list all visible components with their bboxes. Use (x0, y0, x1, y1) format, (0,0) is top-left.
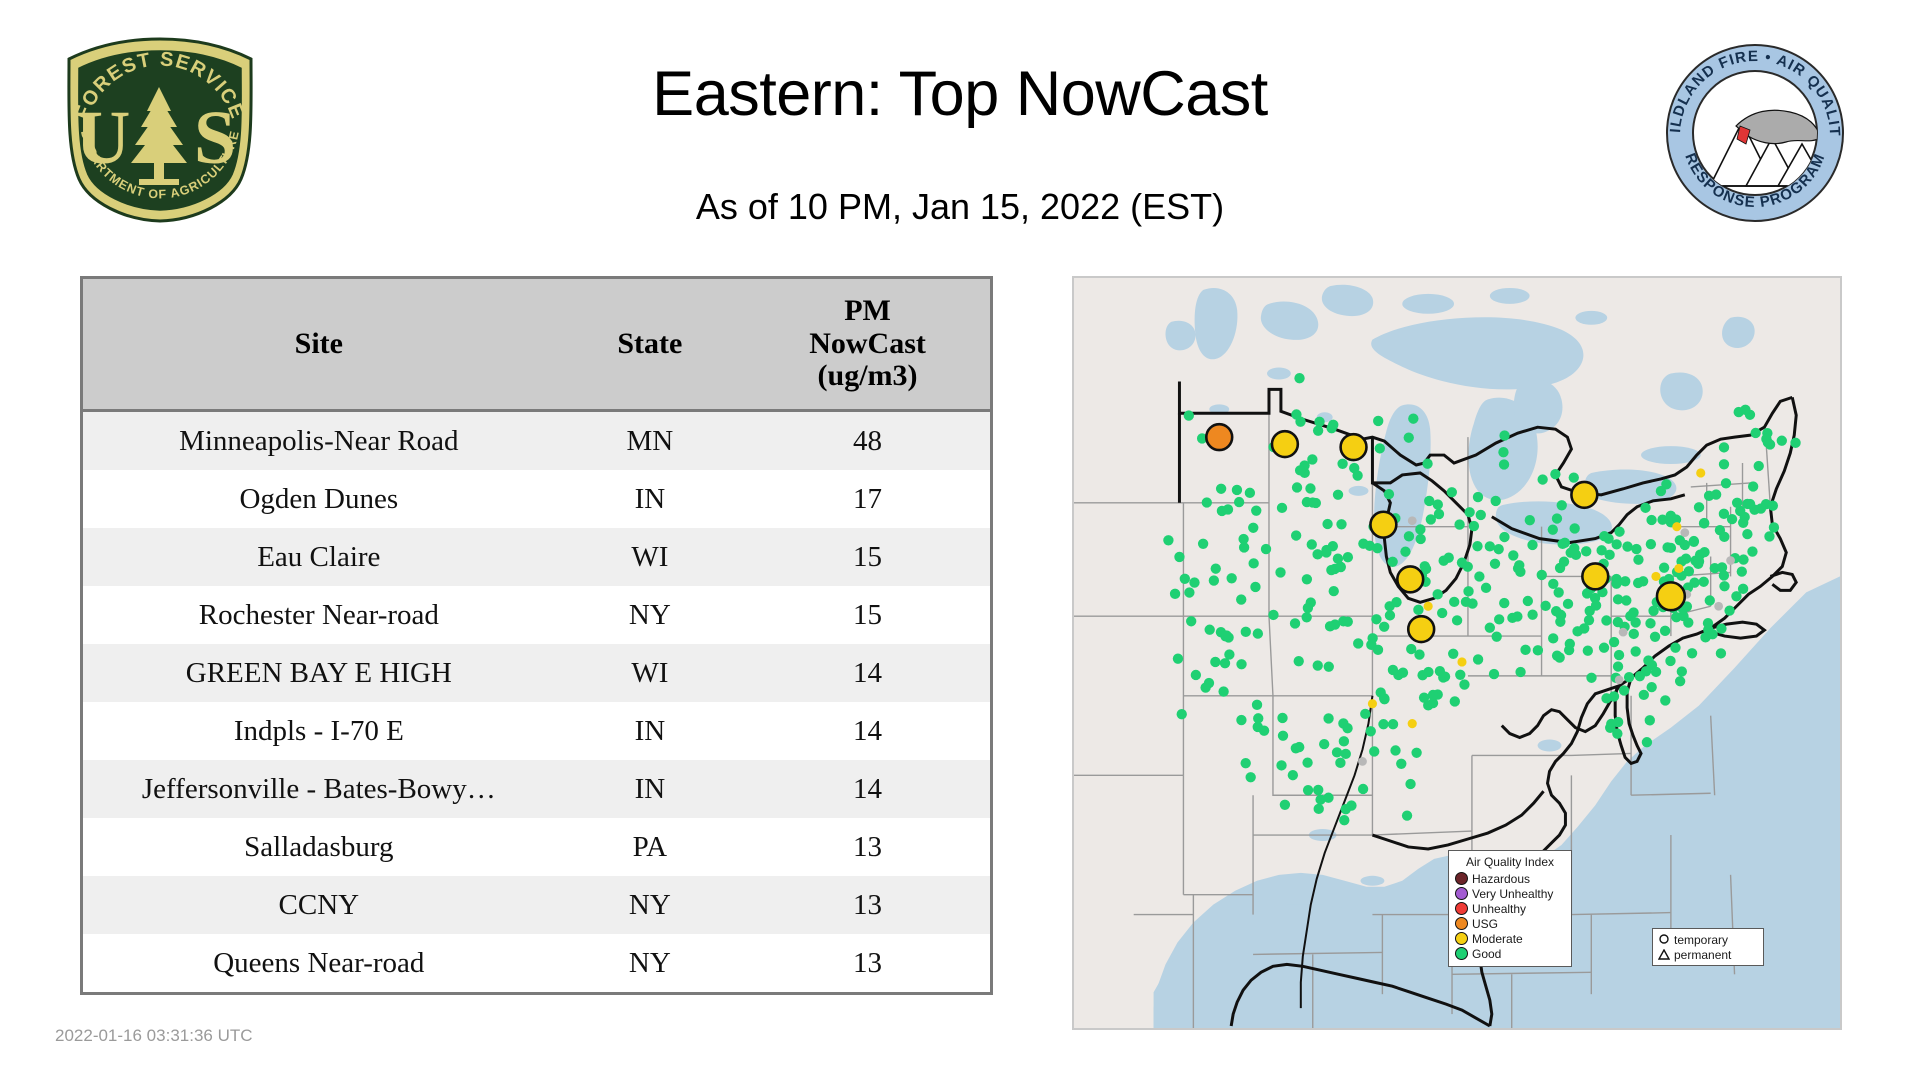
monitor-dot[interactable] (1596, 545, 1606, 555)
monitor-dot[interactable] (1378, 719, 1388, 729)
monitor-dot[interactable] (1444, 553, 1454, 563)
monitor-dot[interactable] (1660, 626, 1670, 636)
monitor-dot[interactable] (1280, 800, 1290, 810)
monitor-dot[interactable] (1586, 673, 1596, 683)
monitor-dot[interactable] (1321, 545, 1331, 555)
monitor-dot[interactable] (1726, 556, 1735, 565)
monitor-dot[interactable] (1452, 615, 1462, 625)
monitor-dot[interactable] (1352, 470, 1362, 480)
monitor-dot[interactable] (1328, 420, 1338, 430)
monitor-dot[interactable] (1373, 645, 1383, 655)
monitor-dot[interactable] (1694, 556, 1704, 566)
monitor-dot[interactable] (1498, 447, 1508, 457)
monitor-dot[interactable] (1464, 507, 1474, 517)
monitor-dot[interactable] (1170, 589, 1180, 599)
monitor-dot[interactable] (1601, 693, 1611, 703)
monitor-dot[interactable] (1369, 746, 1379, 756)
monitor-dot[interactable] (1740, 405, 1750, 415)
monitor-dot[interactable] (1747, 546, 1757, 556)
monitor-dot[interactable] (1424, 496, 1434, 506)
monitor-dot[interactable] (1499, 430, 1509, 440)
monitor-dot[interactable] (1548, 524, 1558, 534)
monitor-dot[interactable] (1689, 537, 1699, 547)
monitor-dot[interactable] (1325, 621, 1335, 631)
monitor-dot[interactable] (1343, 552, 1353, 562)
monitor-dot[interactable] (1619, 685, 1629, 695)
monitor-dot[interactable] (1292, 482, 1302, 492)
monitor-dot[interactable] (1687, 648, 1697, 658)
monitor-dot[interactable] (1537, 474, 1547, 484)
monitor-dot[interactable] (1552, 651, 1562, 661)
monitor-dot[interactable] (1322, 519, 1332, 529)
monitor-dot[interactable] (1360, 709, 1370, 719)
monitor-dot[interactable] (1719, 442, 1729, 452)
monitor-dot[interactable] (1719, 532, 1729, 542)
monitor-dot[interactable] (1656, 486, 1666, 496)
monitor-dot[interactable] (1645, 618, 1655, 628)
top-site-marker-green-bay-e-high[interactable] (1341, 434, 1367, 460)
monitor-dot[interactable] (1629, 629, 1639, 639)
monitor-dot[interactable] (1527, 610, 1537, 620)
monitor-dot[interactable] (1314, 804, 1324, 814)
monitor-dot[interactable] (1601, 615, 1611, 625)
monitor-dot[interactable] (1405, 779, 1415, 789)
monitor-dot[interactable] (1472, 541, 1482, 551)
monitor-dot[interactable] (1313, 426, 1323, 436)
monitor-dot[interactable] (1379, 694, 1389, 704)
monitor-dot[interactable] (1553, 587, 1563, 597)
monitor-dot[interactable] (1415, 524, 1425, 534)
monitor-dot[interactable] (1537, 570, 1547, 580)
monitor-dot[interactable] (1332, 747, 1342, 757)
table-row[interactable]: SalladasburgPA13 (83, 818, 990, 876)
monitor-dot[interactable] (1346, 800, 1356, 810)
monitor-dot[interactable] (1677, 666, 1687, 676)
monitor-dot[interactable] (1404, 531, 1414, 541)
monitor-dot[interactable] (1319, 739, 1329, 749)
monitor-dot[interactable] (1202, 497, 1212, 507)
monitor-dot[interactable] (1245, 488, 1255, 498)
monitor-dot[interactable] (1583, 646, 1593, 656)
monitor-dot[interactable] (1358, 539, 1368, 549)
monitor-dot[interactable] (1591, 600, 1601, 610)
monitor-dot[interactable] (1721, 478, 1731, 488)
monitor-dot[interactable] (1448, 649, 1458, 659)
monitor-dot[interactable] (1329, 586, 1339, 596)
monitor-dot[interactable] (1703, 618, 1713, 628)
monitor-dot[interactable] (1680, 540, 1690, 550)
monitor-dot[interactable] (1454, 519, 1464, 529)
monitor-dot[interactable] (1738, 584, 1748, 594)
table-row[interactable]: Indpls - I-70 EIN14 (83, 702, 990, 760)
monitor-dot[interactable] (1777, 436, 1787, 446)
monitor-dot[interactable] (1666, 543, 1676, 553)
monitor-dot[interactable] (1252, 700, 1262, 710)
table-row[interactable]: Queens Near-roadNY13 (83, 934, 990, 992)
monitor-dot[interactable] (1670, 643, 1680, 653)
top-site-marker-eau-claire[interactable] (1272, 431, 1298, 457)
monitor-dot[interactable] (1457, 558, 1467, 568)
monitor-dot[interactable] (1559, 557, 1569, 567)
monitor-dot[interactable] (1612, 728, 1622, 738)
monitor-dot[interactable] (1485, 623, 1495, 633)
monitor-dot[interactable] (1419, 692, 1429, 702)
monitor-dot[interactable] (1620, 576, 1630, 586)
monitor-dot[interactable] (1674, 564, 1683, 573)
monitor-dot[interactable] (1414, 649, 1424, 659)
monitor-dot[interactable] (1302, 612, 1312, 622)
monitor-dot[interactable] (1515, 567, 1525, 577)
monitor-dot[interactable] (1335, 758, 1345, 768)
monitor-dot[interactable] (1189, 577, 1199, 587)
monitor-dot[interactable] (1540, 601, 1550, 611)
monitor-dot[interactable] (1174, 552, 1184, 562)
monitor-dot[interactable] (1404, 432, 1414, 442)
monitor-dot[interactable] (1463, 586, 1473, 596)
monitor-dot[interactable] (1302, 574, 1312, 584)
monitor-dot[interactable] (1177, 709, 1187, 719)
monitor-dot[interactable] (1750, 428, 1760, 438)
monitor-dot[interactable] (1248, 558, 1258, 568)
monitor-dot[interactable] (1645, 715, 1655, 725)
monitor-dot[interactable] (1599, 531, 1609, 541)
monitor-dot[interactable] (1241, 627, 1251, 637)
monitor-dot[interactable] (1411, 748, 1421, 758)
monitor-dot[interactable] (1200, 682, 1210, 692)
monitor-dot[interactable] (1238, 534, 1248, 544)
monitor-dot[interactable] (1305, 483, 1315, 493)
monitor-dot[interactable] (1339, 736, 1349, 746)
monitor-dot[interactable] (1711, 489, 1721, 499)
monitor-dot[interactable] (1251, 505, 1261, 515)
monitor-dot[interactable] (1295, 465, 1305, 475)
monitor-dot[interactable] (1241, 758, 1251, 768)
monitor-dot[interactable] (1613, 617, 1623, 627)
monitor-dot[interactable] (1633, 578, 1643, 588)
monitor-dot[interactable] (1221, 630, 1231, 640)
monitor-dot[interactable] (1707, 629, 1717, 639)
monitor-dot[interactable] (1209, 575, 1219, 585)
monitor-dot[interactable] (1643, 655, 1653, 665)
monitor-dot[interactable] (1379, 622, 1389, 632)
monitor-dot[interactable] (1485, 541, 1495, 551)
monitor-dot[interactable] (1375, 443, 1385, 453)
monitor-dot[interactable] (1469, 521, 1479, 531)
monitor-dot[interactable] (1426, 514, 1436, 524)
monitor-dot[interactable] (1619, 628, 1628, 637)
monitor-dot[interactable] (1302, 757, 1312, 767)
monitor-dot[interactable] (1646, 539, 1656, 549)
monitor-dot[interactable] (1402, 810, 1412, 820)
monitor-dot[interactable] (1312, 549, 1322, 559)
monitor-dot[interactable] (1236, 715, 1246, 725)
monitor-dot[interactable] (1548, 633, 1558, 643)
monitor-dot[interactable] (1290, 618, 1300, 628)
monitor-dot[interactable] (1633, 555, 1643, 565)
monitor-dot[interactable] (1650, 632, 1660, 642)
monitor-dot[interactable] (1457, 657, 1466, 666)
monitor-dot[interactable] (1569, 472, 1579, 482)
monitor-dot[interactable] (1499, 598, 1509, 608)
monitor-dot[interactable] (1490, 559, 1500, 569)
monitor-dot[interactable] (1422, 459, 1432, 469)
monitor-dot[interactable] (1614, 526, 1624, 536)
monitor-dot[interactable] (1659, 562, 1669, 572)
monitor-dot[interactable] (1481, 583, 1491, 593)
monitor-dot[interactable] (1294, 373, 1304, 383)
monitor-dot[interactable] (1625, 611, 1635, 621)
monitor-dot[interactable] (1716, 624, 1726, 634)
monitor-dot[interactable] (1449, 597, 1459, 607)
monitor-dot[interactable] (1507, 613, 1517, 623)
monitor-dot[interactable] (1428, 690, 1438, 700)
monitor-dot[interactable] (1368, 699, 1377, 708)
monitor-dot[interactable] (1413, 605, 1423, 615)
monitor-dot[interactable] (1699, 518, 1709, 528)
monitor-dot[interactable] (1291, 530, 1301, 540)
monitor-dot[interactable] (1246, 772, 1256, 782)
table-row[interactable]: Ogden DunesIN17 (83, 470, 990, 528)
monitor-dot[interactable] (1227, 573, 1237, 583)
monitor-dot[interactable] (1473, 492, 1483, 502)
monitor-dot[interactable] (1303, 785, 1313, 795)
air-quality-monitor-map[interactable]: Air Quality Index HazardousVery Unhealth… (1072, 276, 1842, 1030)
monitor-dot[interactable] (1622, 541, 1632, 551)
monitor-dot[interactable] (1198, 539, 1208, 549)
monitor-dot[interactable] (1569, 543, 1579, 553)
monitor-dot[interactable] (1683, 617, 1693, 627)
monitor-dot[interactable] (1705, 595, 1715, 605)
monitor-dot[interactable] (1438, 672, 1448, 682)
monitor-dot[interactable] (1756, 503, 1766, 513)
monitor-dot[interactable] (1253, 628, 1263, 638)
monitor-dot[interactable] (1390, 745, 1400, 755)
monitor-dot[interactable] (1358, 757, 1367, 766)
monitor-dot[interactable] (1572, 626, 1582, 636)
monitor-dot[interactable] (1253, 722, 1263, 732)
monitor-dot[interactable] (1268, 610, 1278, 620)
monitor-dot[interactable] (1665, 656, 1675, 666)
monitor-dot[interactable] (1326, 565, 1336, 575)
monitor-dot[interactable] (1366, 726, 1376, 736)
monitor-dot[interactable] (1631, 544, 1641, 554)
monitor-dot[interactable] (1223, 504, 1233, 514)
monitor-dot[interactable] (1250, 582, 1260, 592)
monitor-dot[interactable] (1560, 538, 1570, 548)
monitor-dot[interactable] (1520, 645, 1530, 655)
monitor-dot[interactable] (1769, 522, 1779, 532)
table-row[interactable]: GREEN BAY E HIGHWI14 (83, 644, 990, 702)
monitor-dot[interactable] (1294, 656, 1304, 666)
monitor-dot[interactable] (1716, 648, 1726, 658)
monitor-dot[interactable] (1275, 567, 1285, 577)
table-row[interactable]: Jeffersonville - Bates-Bowy…IN14 (83, 760, 990, 818)
monitor-dot[interactable] (1563, 599, 1573, 609)
table-row[interactable]: Eau ClaireWI15 (83, 528, 990, 586)
monitor-dot[interactable] (1614, 650, 1624, 660)
monitor-dot[interactable] (1387, 557, 1397, 567)
monitor-dot[interactable] (1748, 481, 1758, 491)
monitor-dot[interactable] (1764, 531, 1774, 541)
monitor-dot[interactable] (1186, 616, 1196, 626)
monitor-dot[interactable] (1570, 523, 1580, 533)
monitor-dot[interactable] (1373, 416, 1383, 426)
monitor-dot[interactable] (1551, 606, 1561, 616)
monitor-dot[interactable] (1333, 490, 1343, 500)
monitor-dot[interactable] (1278, 731, 1288, 741)
monitor-dot[interactable] (1333, 554, 1343, 564)
monitor-dot[interactable] (1191, 670, 1201, 680)
monitor-dot[interactable] (1694, 502, 1704, 512)
monitor-dot[interactable] (1489, 669, 1499, 679)
monitor-dot[interactable] (1205, 625, 1215, 635)
monitor-dot[interactable] (1515, 667, 1525, 677)
monitor-dot[interactable] (1615, 675, 1624, 684)
monitor-dot[interactable] (1396, 759, 1406, 769)
top-site-marker-salladasburg[interactable] (1582, 563, 1608, 589)
monitor-dot[interactable] (1337, 459, 1347, 469)
monitor-dot[interactable] (1525, 515, 1535, 525)
monitor-dot[interactable] (1358, 784, 1368, 794)
monitor-dot[interactable] (1672, 522, 1681, 531)
monitor-dot[interactable] (1339, 815, 1349, 825)
monitor-dot[interactable] (1492, 632, 1502, 642)
monitor-dot[interactable] (1714, 602, 1723, 611)
monitor-dot[interactable] (1437, 608, 1447, 618)
monitor-dot[interactable] (1565, 639, 1575, 649)
monitor-dot[interactable] (1646, 515, 1656, 525)
monitor-dot[interactable] (1555, 617, 1565, 627)
table-row[interactable]: CCNYNY13 (83, 876, 990, 934)
monitor-dot[interactable] (1385, 610, 1395, 620)
monitor-dot[interactable] (1391, 597, 1401, 607)
monitor-dot[interactable] (1508, 550, 1518, 560)
monitor-dot[interactable] (1173, 653, 1183, 663)
monitor-dot[interactable] (1388, 665, 1398, 675)
monitor-dot[interactable] (1295, 417, 1305, 427)
monitor-dot[interactable] (1742, 529, 1752, 539)
monitor-dot[interactable] (1371, 614, 1381, 624)
monitor-dot[interactable] (1353, 638, 1363, 648)
table-row[interactable]: Minneapolis-Near RoadMN48 (83, 411, 990, 471)
monitor-dot[interactable] (1163, 535, 1173, 545)
monitor-dot[interactable] (1719, 570, 1729, 580)
monitor-dot[interactable] (1613, 661, 1623, 671)
monitor-dot[interactable] (1719, 509, 1729, 519)
monitor-dot[interactable] (1724, 605, 1734, 615)
monitor-dot[interactable] (1474, 571, 1484, 581)
monitor-dot[interactable] (1417, 670, 1427, 680)
monitor-dot[interactable] (1635, 671, 1645, 681)
monitor-dot[interactable] (1648, 606, 1658, 616)
monitor-dot[interactable] (1218, 686, 1228, 696)
monitor-dot[interactable] (1180, 574, 1190, 584)
monitor-dot[interactable] (1552, 513, 1562, 523)
top-site-marker-minneapolis-near-road[interactable] (1206, 424, 1232, 450)
monitor-dot[interactable] (1248, 523, 1258, 533)
monitor-dot[interactable] (1611, 539, 1621, 549)
monitor-dot[interactable] (1719, 459, 1729, 469)
monitor-dot[interactable] (1314, 417, 1324, 427)
monitor-dot[interactable] (1343, 616, 1353, 626)
monitor-dot[interactable] (1341, 749, 1351, 759)
monitor-dot[interactable] (1647, 682, 1657, 692)
monitor-dot[interactable] (1745, 499, 1755, 509)
monitor-dot[interactable] (1313, 660, 1323, 670)
monitor-dot[interactable] (1499, 459, 1509, 469)
monitor-dot[interactable] (1323, 793, 1333, 803)
monitor-dot[interactable] (1400, 546, 1410, 556)
monitor-dot[interactable] (1234, 497, 1244, 507)
monitor-dot[interactable] (1313, 785, 1323, 795)
monitor-dot[interactable] (1307, 454, 1317, 464)
monitor-dot[interactable] (1324, 662, 1334, 672)
monitor-dot[interactable] (1220, 658, 1230, 668)
monitor-dot[interactable] (1342, 723, 1352, 733)
monitor-dot[interactable] (1699, 547, 1709, 557)
monitor-dot[interactable] (1738, 554, 1748, 564)
monitor-dot[interactable] (1224, 649, 1234, 659)
monitor-dot[interactable] (1408, 413, 1418, 423)
monitor-dot[interactable] (1606, 719, 1616, 729)
monitor-dot[interactable] (1737, 566, 1747, 576)
monitor-dot[interactable] (1307, 539, 1317, 549)
monitor-dot[interactable] (1523, 596, 1533, 606)
monitor-dot[interactable] (1494, 544, 1504, 554)
top-site-marker-indpls-i-70-e[interactable] (1397, 566, 1423, 592)
monitor-dot[interactable] (1624, 672, 1634, 682)
monitor-dot[interactable] (1675, 676, 1685, 686)
monitor-dot[interactable] (1609, 637, 1619, 647)
monitor-dot[interactable] (1494, 614, 1504, 624)
monitor-dot[interactable] (1372, 543, 1382, 553)
monitor-dot[interactable] (1210, 657, 1220, 667)
monitor-dot[interactable] (1639, 690, 1649, 700)
monitor-dot[interactable] (1336, 519, 1346, 529)
monitor-dot[interactable] (1557, 500, 1567, 510)
monitor-dot[interactable] (1651, 667, 1661, 677)
monitor-dot[interactable] (1768, 501, 1778, 511)
table-row[interactable]: Rochester Near-roadNY15 (83, 586, 990, 644)
monitor-dot[interactable] (1288, 770, 1298, 780)
monitor-dot[interactable] (1388, 719, 1398, 729)
monitor-dot[interactable] (1476, 510, 1486, 520)
monitor-dot[interactable] (1548, 579, 1558, 589)
monitor-dot[interactable] (1699, 577, 1709, 587)
monitor-dot[interactable] (1467, 598, 1477, 608)
top-site-marker-rochester-near-road[interactable] (1571, 482, 1597, 508)
monitor-dot[interactable] (1765, 439, 1775, 449)
monitor-dot[interactable] (1184, 587, 1194, 597)
monitor-dot[interactable] (1681, 554, 1691, 564)
monitor-dot[interactable] (1611, 578, 1621, 588)
monitor-dot[interactable] (1184, 410, 1194, 420)
monitor-dot[interactable] (1640, 503, 1650, 513)
monitor-dot[interactable] (1613, 594, 1623, 604)
monitor-dot[interactable] (1550, 469, 1560, 479)
monitor-dot[interactable] (1447, 487, 1457, 497)
monitor-dot[interactable] (1660, 695, 1670, 705)
monitor-dot[interactable] (1473, 654, 1483, 664)
monitor-dot[interactable] (1527, 540, 1537, 550)
monitor-dot[interactable] (1450, 696, 1460, 706)
monitor-dot[interactable] (1455, 670, 1465, 680)
monitor-dot[interactable] (1599, 643, 1609, 653)
top-site-marker-ogden-dunes[interactable] (1370, 512, 1396, 538)
top-site-marker-jeffersonville-bates-bowy[interactable] (1408, 616, 1434, 642)
monitor-dot[interactable] (1459, 679, 1469, 689)
monitor-dot[interactable] (1291, 743, 1301, 753)
